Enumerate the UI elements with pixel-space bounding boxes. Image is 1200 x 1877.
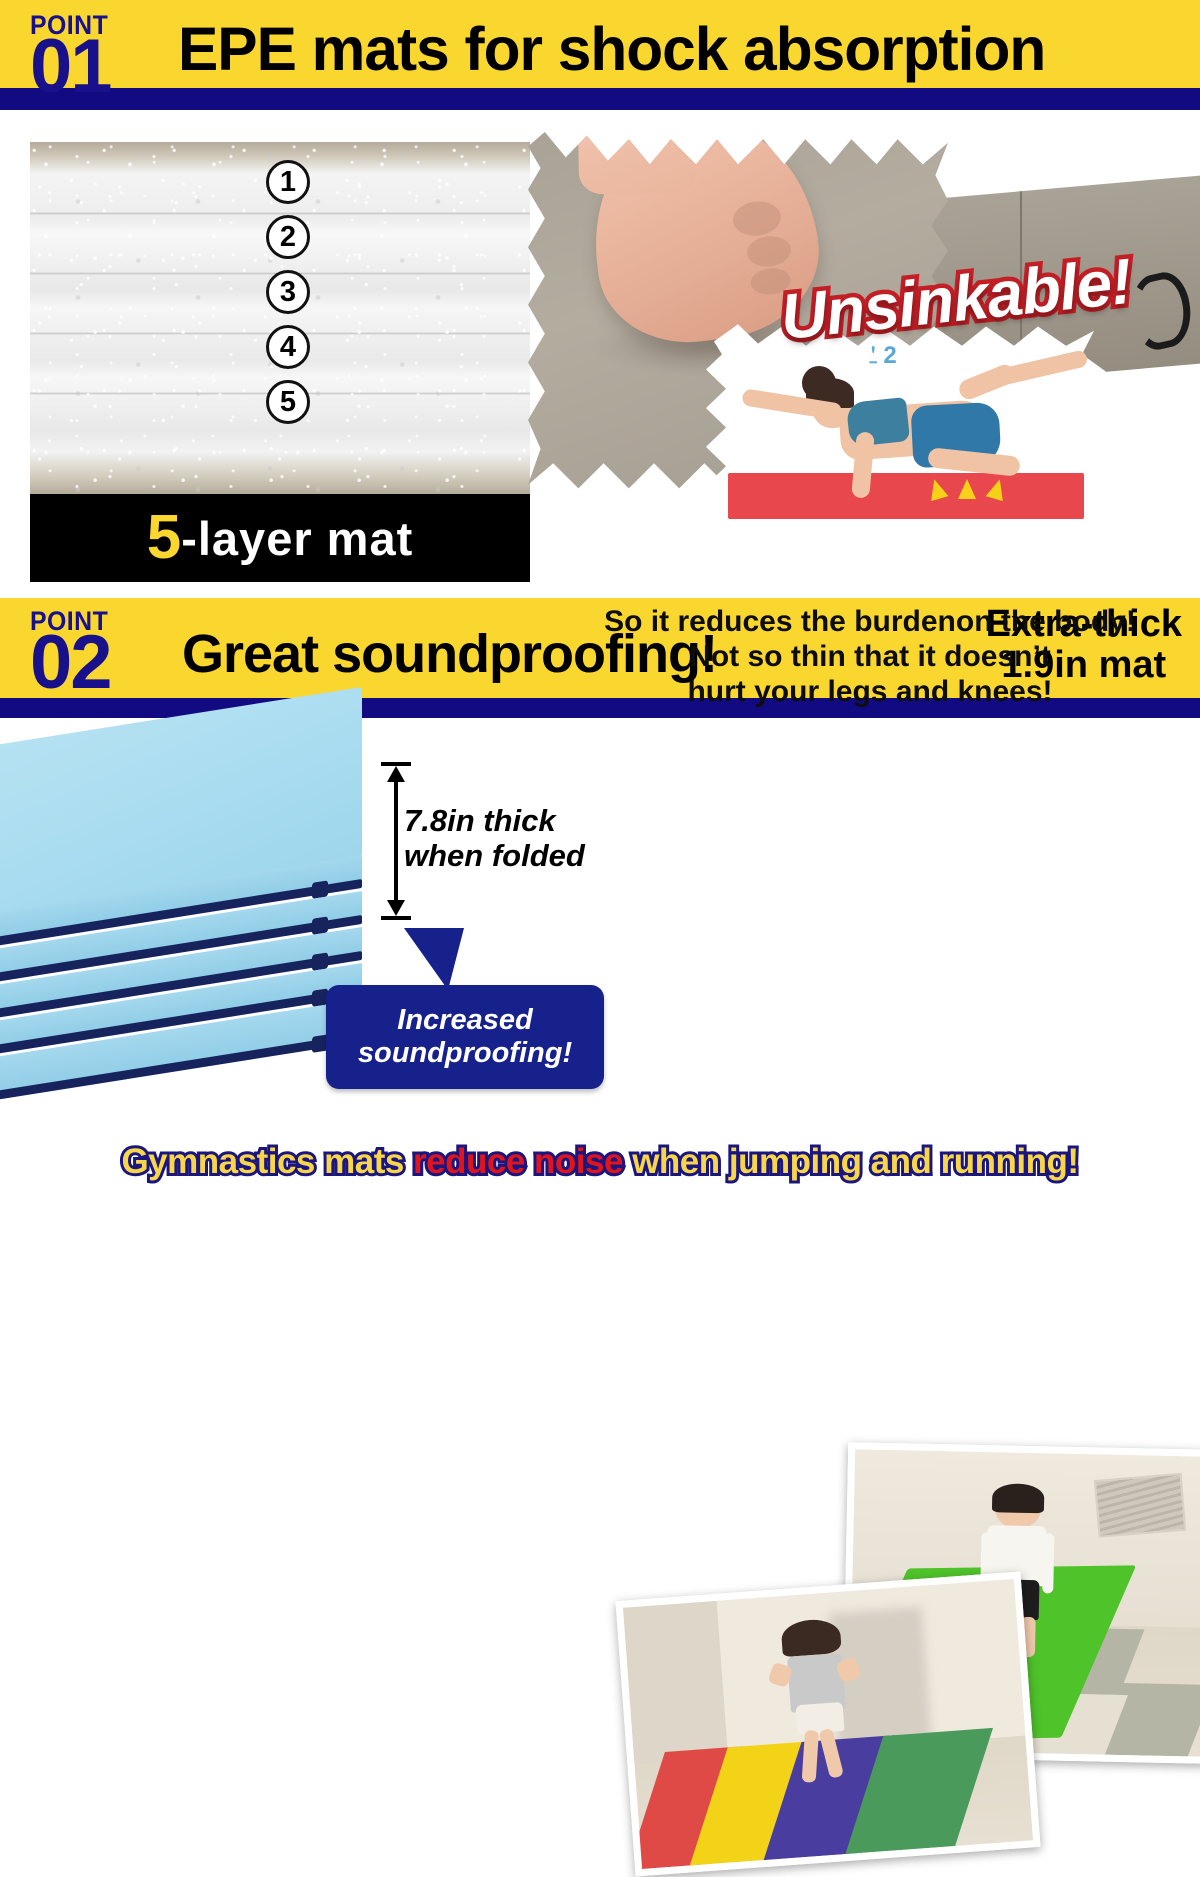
point-01-badge-number: 01 [30, 29, 115, 105]
callout-line-2: soundproofing! [358, 1037, 572, 1070]
foam-cross-section-image: 1 2 3 4 5 [30, 142, 530, 494]
bottom-caption-highlight: reduce noise [413, 1142, 623, 1181]
layer-number-2: 2 [266, 215, 310, 259]
girl-figure [774, 1620, 868, 1788]
point-01-badge-word: POINT [30, 12, 108, 39]
point-02-badge-word: POINT [30, 608, 108, 635]
point-02-content: 7.8in thick when folded Increased soundp… [0, 718, 1200, 1138]
bottom-caption: Gymnastics mats reduce noise when jumpin… [0, 1142, 1200, 1182]
point-01-caption: So it reduces the burdenon the body! Not… [540, 604, 1200, 709]
bottom-caption-part-2: when jumping and running! [623, 1142, 1079, 1181]
red-yoga-mat [728, 473, 1084, 519]
point-02-badge-number: 02 [30, 625, 115, 701]
thickness-line-1: 7.8in thick [404, 803, 585, 838]
ceiling-vent [1094, 1473, 1187, 1538]
photo-girl-running-on-mat [615, 1572, 1040, 1877]
point-01-caption-line-3: hurt your legs and knees! [540, 674, 1200, 709]
breath-icon: ⍘2 [866, 342, 900, 370]
fist-press-photo: ⍘2 [528, 132, 1200, 602]
point-01-content: 1 2 3 4 5 5 -layer mat [0, 110, 1200, 598]
layer-number-5: 5 [266, 380, 310, 424]
point-01-title: EPE mats for shock absorption [178, 14, 1045, 84]
bottom-caption-part-1: Gymnastics mats [121, 1142, 413, 1181]
layer-number-1: 1 [266, 160, 310, 204]
foam-caption-bar: 5 -layer mat [30, 494, 530, 582]
layer-number-4: 4 [266, 325, 310, 369]
foam-caption-text: -layer mat [181, 515, 413, 562]
layer-number-column: 1 2 3 4 5 [266, 160, 326, 435]
yoga-illustration: ⍘2 [706, 320, 1106, 535]
mat-slab-6 [0, 1030, 362, 1086]
thickness-line-2: when folded [404, 838, 585, 873]
foam-layer-photo: 1 2 3 4 5 5 -layer mat [30, 142, 530, 582]
soundproofing-callout: Increased soundproofing! [326, 985, 604, 1089]
layer-number-3: 3 [266, 270, 310, 314]
thickness-label: 7.8in thick when folded [404, 803, 585, 874]
point-02-badge: POINT 02 [30, 608, 115, 701]
callout-pointer [404, 928, 464, 990]
callout-line-1: Increased [358, 1004, 572, 1037]
point-01-badge: POINT 01 [30, 12, 115, 105]
point-01-banner-rule [0, 88, 1200, 110]
foam-caption-number: 5 [147, 507, 181, 569]
point-01-caption-line-2: Not so thin that it doesn’t [540, 639, 1200, 674]
infographic-page: POINT 01 EPE mats for shock absorption 1… [0, 0, 1200, 1198]
point-01-caption-line-1: So it reduces the burdenon the body! [540, 604, 1200, 639]
